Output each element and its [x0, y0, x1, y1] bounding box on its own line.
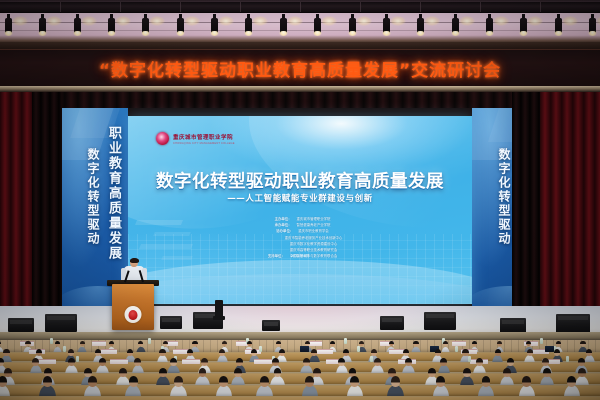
audience-head — [129, 376, 138, 386]
stage-light — [279, 14, 288, 36]
audience-head — [272, 358, 279, 366]
audience-head — [578, 358, 585, 366]
audience-head — [219, 349, 225, 356]
delegate-name-card — [317, 349, 333, 354]
water-bottle — [50, 338, 53, 344]
audience-head — [127, 349, 133, 356]
delegate-name-card — [38, 359, 56, 364]
wall-trim — [0, 42, 600, 49]
stage-light — [554, 14, 563, 36]
audience-head — [95, 349, 101, 356]
audience-head — [119, 368, 127, 377]
audience-head — [36, 349, 42, 356]
light-glow — [149, 16, 165, 26]
slide-organizer-line: 主办单位：重庆城市管理职业学院 — [270, 216, 331, 221]
stage-light — [588, 14, 597, 36]
water-bottle — [148, 338, 151, 344]
podium-emblem-icon — [125, 306, 142, 323]
audience-head — [174, 376, 183, 386]
audience-head — [313, 368, 321, 377]
audience-head — [0, 376, 7, 386]
audience-head — [68, 358, 75, 366]
audience-head — [388, 368, 396, 377]
light-glow — [184, 16, 200, 26]
audience-head — [4, 368, 12, 377]
audience-head — [159, 349, 165, 356]
audience-head — [159, 368, 167, 377]
stage-light — [141, 14, 150, 36]
light-glow — [562, 16, 578, 26]
led-panel-left: 职业教育高质量发展 数字化转型驱动 — [62, 108, 128, 308]
water-bottle — [357, 346, 360, 352]
audience-head — [305, 376, 314, 386]
stage-monitor-speaker — [380, 316, 404, 330]
light-glow — [493, 16, 509, 26]
audience-head — [567, 376, 576, 386]
stage-light — [244, 14, 253, 36]
led-panel-left-column-left: 数字化转型驱动 — [85, 148, 102, 246]
stage-light — [4, 14, 13, 36]
ceiling — [0, 0, 600, 44]
stage-light — [416, 14, 425, 36]
audience-head — [234, 368, 242, 377]
light-glow — [46, 16, 62, 26]
curtain-left-inner — [32, 92, 62, 324]
college-name-en: CHONGQING CITY MANAGEMENT COLLEGE — [173, 142, 235, 145]
organizer-label: 协办单位： — [271, 228, 293, 233]
curtain-right-inner — [512, 92, 542, 324]
delegate-name-card — [92, 341, 106, 346]
stage-light — [107, 14, 116, 36]
audience-head — [44, 368, 52, 377]
audience-head — [586, 349, 592, 356]
auditorium-photo: “数字化转型驱动职业教育高质量发展”交流研讨会 职业教育高质量发展 数字化转型驱… — [0, 0, 600, 400]
audience-head — [343, 349, 349, 356]
audience-head — [201, 358, 208, 366]
audience-head — [374, 358, 381, 366]
audience-head — [32, 358, 39, 366]
audience-head — [303, 358, 310, 366]
audience-head — [199, 368, 207, 377]
audience-head — [170, 358, 177, 366]
stage-monitor-speaker — [556, 314, 590, 333]
water-bottle — [540, 338, 543, 344]
audience-head — [99, 358, 106, 366]
audience-head — [440, 358, 447, 366]
audience-head — [554, 349, 560, 356]
organizer-value: 重庆市智能养老服务产业技术创新中心 — [285, 235, 343, 240]
organizer-value: 智慧健康养老产业学院 — [297, 222, 331, 227]
audience-head — [349, 368, 357, 377]
stage-light — [38, 14, 47, 36]
audience-head — [371, 349, 377, 356]
audience-head — [350, 376, 359, 386]
audience-head — [556, 341, 561, 347]
laptop — [300, 346, 309, 352]
stage-monitor-speaker — [500, 318, 526, 333]
organizer-value: 重庆市职业教育学会 — [298, 228, 329, 233]
organizer-value: 重庆城市管理职业学院 — [297, 216, 331, 221]
stage-light — [73, 14, 82, 36]
light-glow — [81, 16, 97, 26]
led-banner: “数字化转型驱动职业教育高质量发展”交流研讨会 — [0, 49, 600, 88]
audience-head — [260, 376, 269, 386]
slide-organizer-line: 重庆市数字化教学资源建设中心 — [263, 241, 337, 246]
water-bottle — [468, 356, 471, 362]
audience-head — [543, 368, 551, 377]
audience-head — [527, 349, 533, 356]
audience-head — [580, 341, 585, 347]
slide-organizer-line: 承办单位：智慧健康养老产业学院 — [270, 222, 331, 227]
delegate-name-card — [308, 341, 322, 346]
audience-head — [495, 349, 501, 356]
audience-head — [436, 376, 445, 386]
audience-head — [68, 349, 74, 356]
delegate-name-card — [452, 341, 466, 346]
slide-organizer-line: 重庆市高等职业技术教育研究会 — [263, 247, 337, 252]
stage-light — [348, 14, 357, 36]
audience-head — [507, 358, 514, 366]
slide-organizer-line: 重庆市智能养老服务产业技术创新中心 — [258, 235, 343, 240]
audience-head — [25, 341, 30, 347]
water-bottle — [455, 346, 458, 352]
audience-head — [462, 349, 468, 356]
light-glow — [321, 16, 337, 26]
audience-head — [338, 358, 345, 366]
audience-head — [542, 358, 549, 366]
audience-head — [43, 376, 52, 386]
slide-organizer-line: 协办单位：重庆市职业教育学会 — [271, 228, 329, 233]
stage-light — [451, 14, 460, 36]
stage-monitor-speaker — [8, 318, 34, 332]
light-glow — [252, 16, 268, 26]
audience-head — [413, 341, 418, 347]
audience-head — [219, 376, 228, 386]
light-glow — [218, 16, 234, 26]
laptop — [545, 346, 554, 352]
stage-monitor-speaker — [424, 312, 456, 330]
light-glow — [390, 16, 406, 26]
banner-text: “数字化转型驱动职业教育高质量发展”交流研讨会 — [99, 56, 501, 81]
light-glow — [115, 16, 131, 26]
water-bottle — [63, 346, 66, 352]
organizer-label: 主办单位： — [270, 216, 292, 221]
audience-head — [187, 349, 193, 356]
stage-light — [313, 14, 322, 36]
audience-head — [311, 349, 317, 356]
slide-date: 2024年6月 — [128, 254, 472, 259]
main-presentation-screen: 重庆城市管理职业学院 CHONGQING CITY MANAGEMENT COL… — [128, 116, 472, 304]
delegate-name-card — [182, 359, 200, 364]
audience-head — [405, 358, 412, 366]
college-name-cn: 重庆城市管理职业学院 — [173, 133, 235, 141]
stage-monitor-speaker — [160, 316, 182, 329]
audience-head — [578, 368, 586, 377]
audience-head — [389, 341, 394, 347]
curtain-valance — [0, 92, 600, 108]
audience-head — [88, 376, 97, 386]
delegate-name-card — [110, 359, 128, 364]
water-bottle — [370, 356, 373, 362]
audience-head — [134, 358, 141, 366]
water-bottle — [566, 356, 569, 362]
light-glow — [424, 16, 440, 26]
audience-head — [476, 358, 483, 366]
audience-head — [435, 349, 441, 356]
audience-head — [391, 376, 400, 386]
audience-head — [3, 349, 9, 356]
audience-head — [192, 341, 197, 347]
light-glow — [527, 16, 543, 26]
slide-organizer-list: 主办单位：重庆城市管理职业学院承办单位：智慧健康养老产业学院协办单位：重庆市职业… — [128, 216, 472, 258]
delegate-name-card — [101, 349, 117, 354]
audience-head — [279, 349, 285, 356]
audience-head — [80, 341, 85, 347]
water-bottle — [344, 338, 347, 344]
audience-head — [0, 358, 4, 366]
light-glow — [12, 16, 28, 26]
delegate-name-card — [254, 359, 272, 364]
audience-head — [251, 349, 257, 356]
curtain-right-outer — [540, 92, 600, 324]
audience-head — [247, 341, 252, 347]
audience-head — [503, 368, 511, 377]
stage-monitor-speaker — [45, 314, 77, 332]
light-glow — [459, 16, 475, 26]
stage-light — [210, 14, 219, 36]
audience-head — [403, 349, 409, 356]
podium — [112, 284, 154, 330]
organizer-value: 重庆市高等职业技术教育研究会 — [290, 247, 337, 252]
audience-head — [463, 368, 471, 377]
college-logo: 重庆城市管理职业学院 CHONGQING CITY MANAGEMENT COL… — [156, 132, 235, 145]
stage-light — [485, 14, 494, 36]
water-bottle — [76, 356, 79, 362]
stage-monitor-speaker — [262, 320, 280, 331]
lighting-truss — [0, 2, 600, 13]
led-panel-left-column-right: 职业教育高质量发展 — [104, 126, 123, 261]
audience-head — [428, 368, 436, 377]
audience-head — [84, 368, 92, 377]
audience-head — [236, 358, 243, 366]
organizer-label: 承办单位： — [270, 222, 292, 227]
light-glow — [287, 16, 303, 26]
audience-head — [274, 368, 282, 377]
audience-head — [482, 376, 491, 386]
seat-row — [0, 396, 600, 400]
stage-light — [176, 14, 185, 36]
slide-title: 数字化转型驱动职业教育高质量发展 — [128, 168, 472, 193]
audience-head — [522, 376, 531, 386]
water-bottle — [259, 346, 262, 352]
stage-light — [519, 14, 528, 36]
slide-subtitle: ——人工智能赋能专业群建设与创新 — [128, 192, 472, 204]
organizer-value: 重庆市数字化教学资源建设中心 — [290, 241, 337, 246]
led-panel-right-column-left: 数字化转型驱动 — [496, 148, 513, 246]
college-seal-icon — [156, 132, 169, 145]
stage-light — [382, 14, 391, 36]
light-glow — [356, 16, 372, 26]
